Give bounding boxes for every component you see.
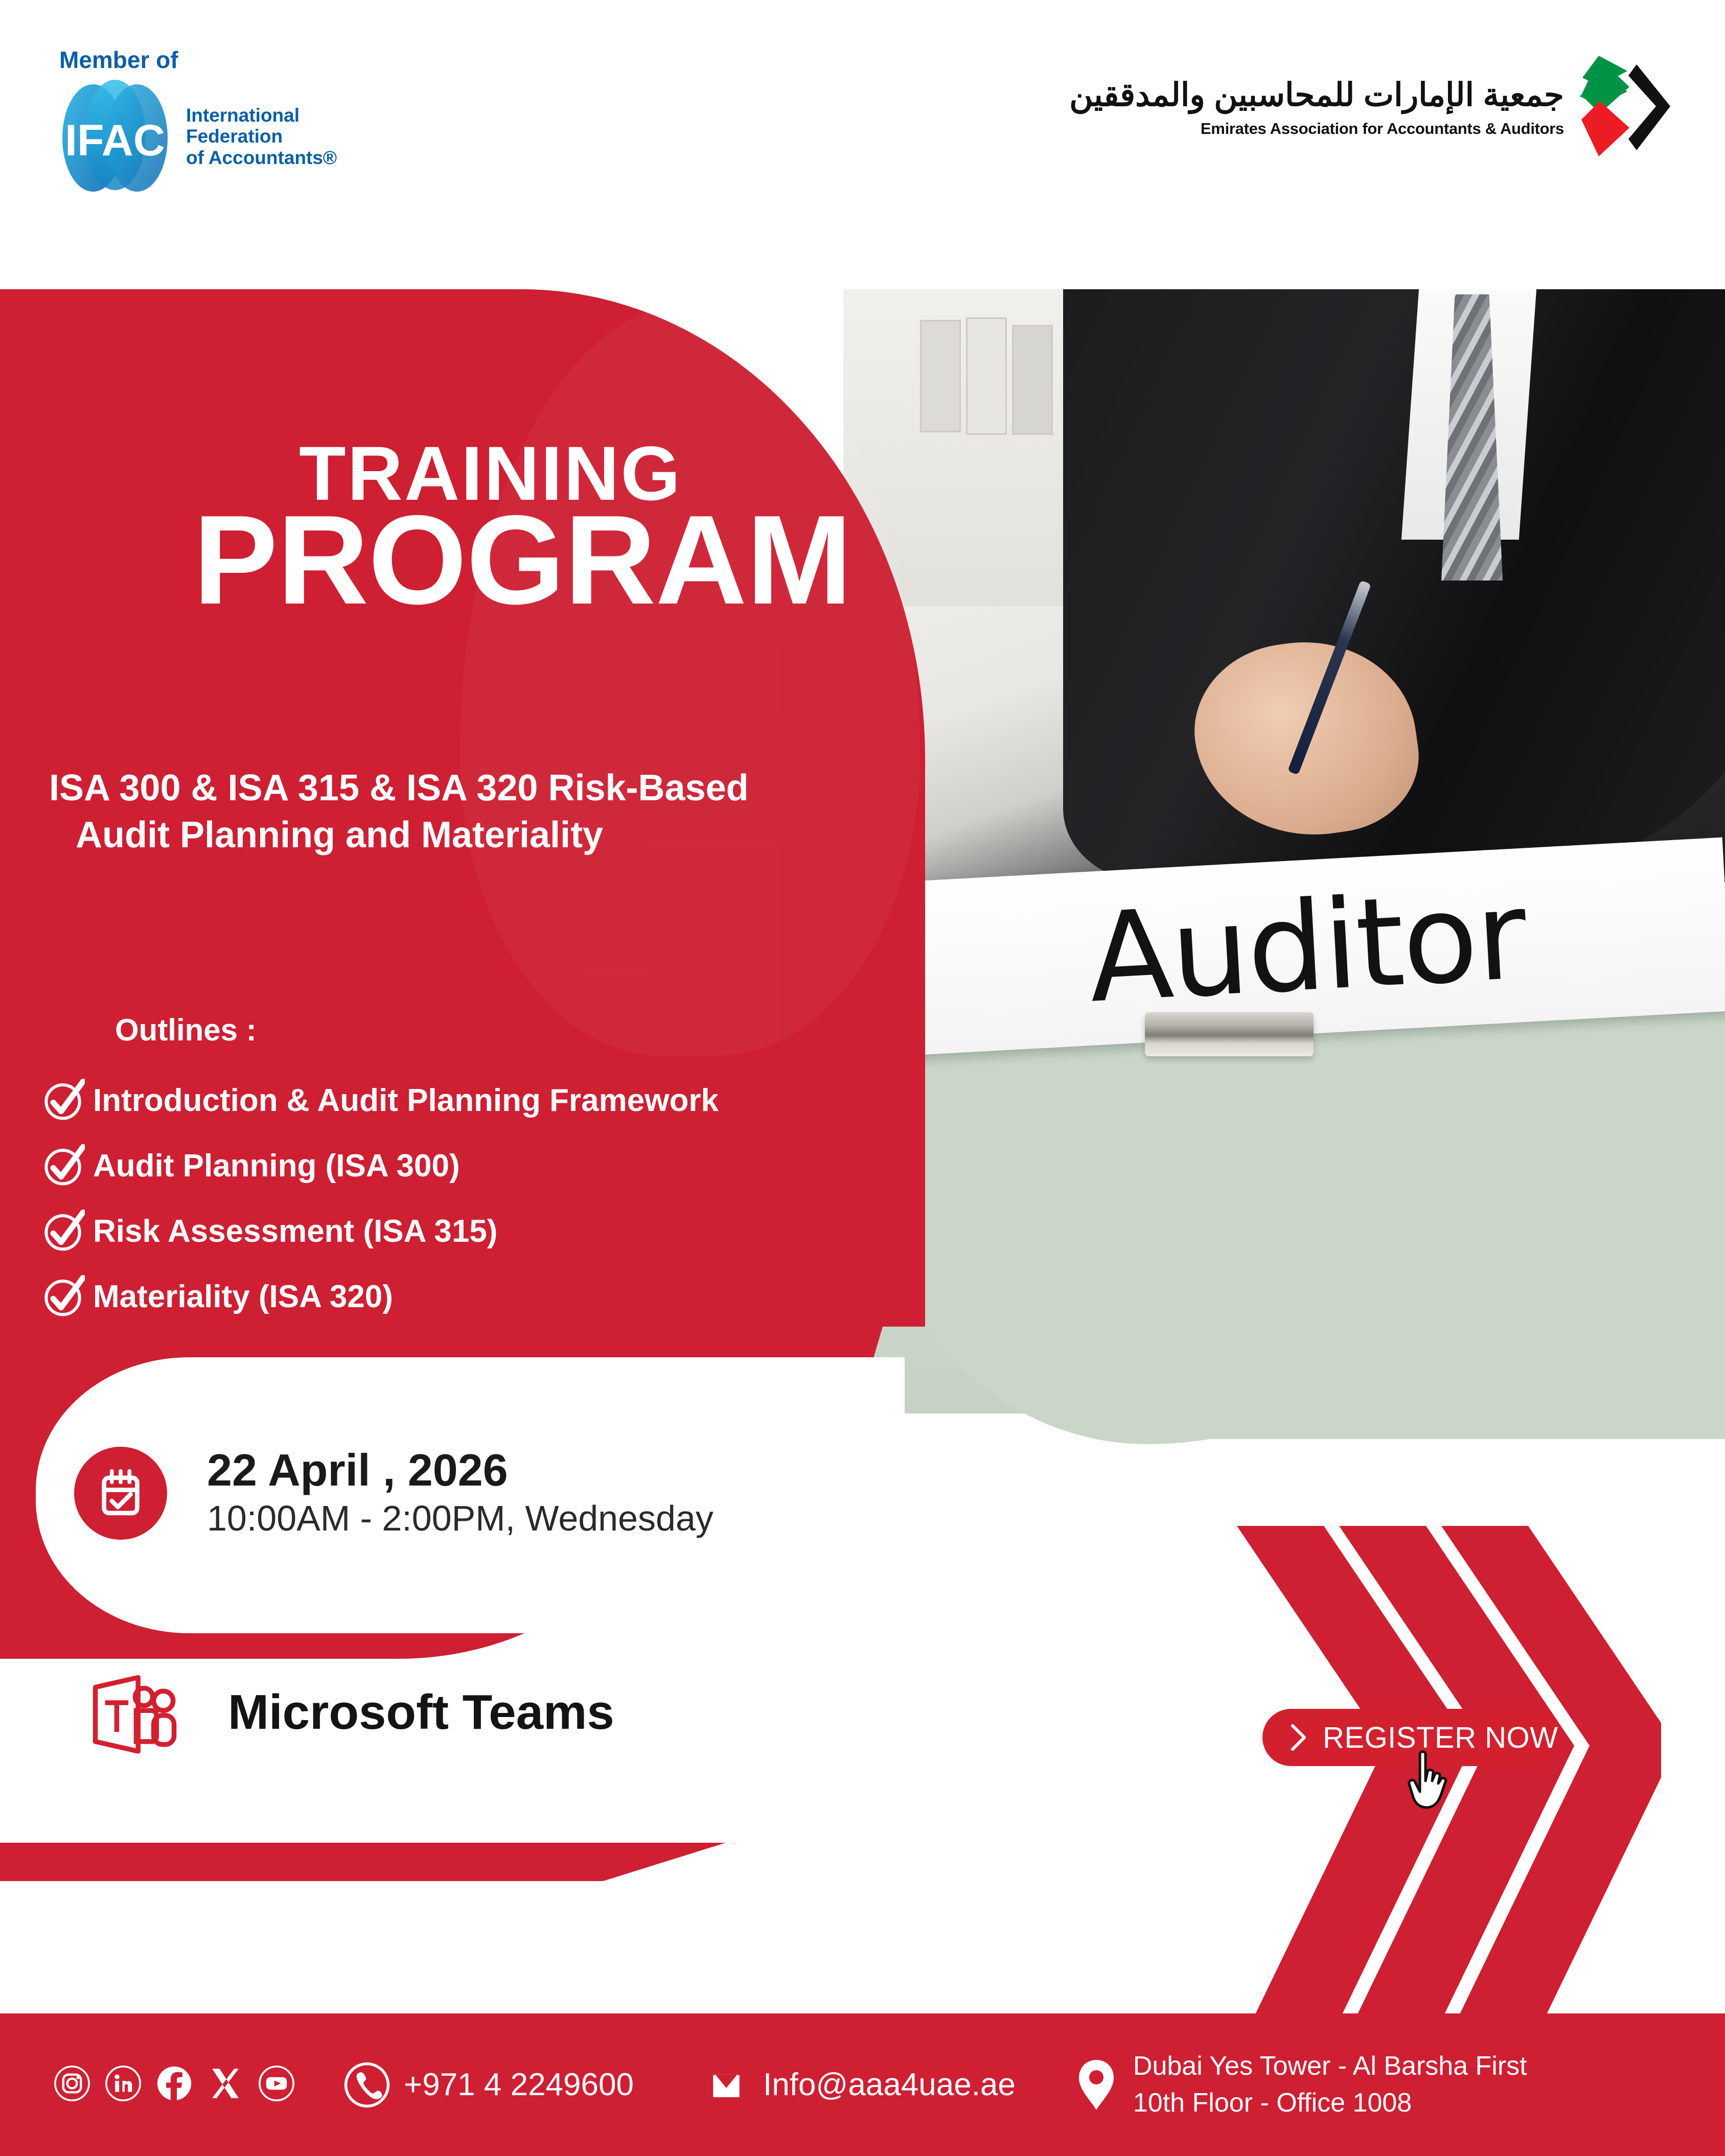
hero-subtitle: ISA 300 & ISA 315 & ISA 320 Risk-Based A… [49, 764, 1020, 859]
check-circle-icon [41, 1144, 85, 1188]
list-item: Audit Planning (ISA 300) [41, 1144, 940, 1188]
list-item: Materiality (ISA 320) [41, 1275, 940, 1319]
outline-item-label: Introduction & Audit Planning Framework [93, 1085, 719, 1117]
outline-item-label: Risk Assessment (ISA 315) [93, 1216, 497, 1247]
social-links [54, 2065, 295, 2104]
ifac-member-logo: Member of IFAC [51, 46, 378, 199]
check-circle-icon [41, 1275, 85, 1319]
ifac-petal-logo-icon: IFAC [51, 78, 179, 195]
instagram-icon[interactable] [54, 2065, 90, 2104]
association-name-arabic: جمعية الإمارات للمحاسبين والمدققين [1069, 77, 1564, 113]
platform-block: Microsoft Teams [82, 1664, 614, 1761]
page-footer: +971 4 2249600 Info@aaa4uae.ae Dubai Yes… [0, 2013, 1725, 2156]
ifac-member-of-label: Member of [59, 46, 378, 74]
event-date: 22 April , 2026 [207, 1447, 714, 1494]
association-logo: جمعية الإمارات للمحاسبين والمدققين Emira… [1069, 56, 1676, 158]
page-header: Member of IFAC [0, 0, 1725, 289]
linkedin-icon[interactable] [105, 2065, 142, 2104]
ifac-name-line-2: Federation [186, 126, 337, 147]
nameplate-stand [1145, 1012, 1314, 1056]
location-pin-icon [1077, 2059, 1116, 2111]
footer-email-value: Info@aaa4uae.ae [763, 2067, 1016, 2103]
nameplate-text: Auditor [1085, 864, 1529, 1030]
poster-body: Auditor TRAINING PROGRAM ISA 300 & ISA 3… [0, 289, 1725, 2013]
outline-item-label: Materiality (ISA 320) [93, 1281, 393, 1313]
outlines-heading: Outlines : [115, 1012, 257, 1048]
page-title: PROGRAM [193, 496, 852, 623]
phone-icon [343, 2061, 390, 2108]
decorative-stripe [0, 1843, 726, 1881]
svg-text:IFAC: IFAC [65, 116, 165, 165]
eaa-chevron-logo-icon [1579, 56, 1676, 158]
hero-subtitle-line-2: Audit Planning and Materiality [76, 812, 1020, 859]
list-item: Risk Assessment (ISA 315) [41, 1210, 940, 1254]
list-item: Introduction & Audit Planning Framework [41, 1079, 940, 1123]
hero-subtitle-line-1: ISA 300 & ISA 315 & ISA 320 Risk-Based [49, 764, 1020, 812]
outlines-list: Introduction & Audit Planning Framework … [41, 1079, 940, 1340]
schedule-block: 22 April , 2026 10:00AM - 2:00PM, Wednes… [74, 1447, 714, 1540]
x-twitter-icon[interactable] [207, 2065, 244, 2104]
footer-address-line-1: Dubai Yes Tower - Al Barsha First [1133, 2048, 1527, 2085]
chevron-right-icon [1290, 1724, 1307, 1751]
pointing-hand-cursor-icon [1403, 1748, 1459, 1825]
ifac-name-line-3: of Accountants® [186, 147, 337, 168]
check-circle-icon [41, 1079, 85, 1123]
microsoft-teams-icon [82, 1664, 179, 1761]
footer-email[interactable]: Info@aaa4uae.ae [703, 2061, 1016, 2108]
event-time: 10:00AM - 2:00PM, Wednesday [207, 1497, 714, 1540]
platform-label: Microsoft Teams [228, 1684, 614, 1741]
youtube-icon[interactable] [258, 2065, 295, 2104]
footer-phone[interactable]: +971 4 2249600 [343, 2061, 634, 2108]
ifac-name-line-1: International [186, 105, 337, 126]
footer-phone-value: +971 4 2249600 [404, 2067, 634, 2103]
envelope-icon [703, 2061, 750, 2108]
footer-address-line-2: 10th Floor - Office 1008 [1133, 2085, 1527, 2122]
check-circle-icon [41, 1210, 85, 1254]
calendar-icon [74, 1447, 167, 1540]
association-name-english: Emirates Association for Accountants & A… [1069, 120, 1564, 138]
footer-address: Dubai Yes Tower - Al Barsha First 10th F… [1077, 2048, 1527, 2122]
facebook-icon[interactable] [156, 2065, 193, 2104]
outline-item-label: Audit Planning (ISA 300) [93, 1150, 460, 1182]
